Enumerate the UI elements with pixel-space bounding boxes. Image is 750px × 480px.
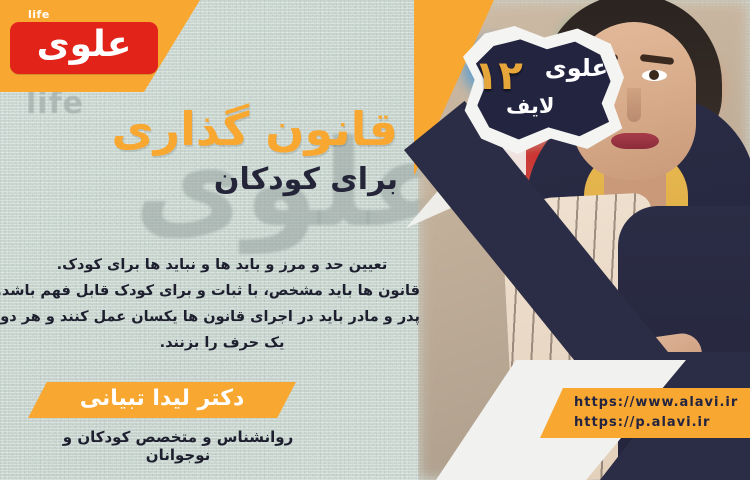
presenter-name: دکتر لیدا تبیانی [80,388,245,413]
presenter-pupil-right [649,70,659,80]
logo-badge[interactable]: علوی [10,22,158,74]
website-url-primary[interactable]: https://www.alavi.ir [574,393,750,413]
presenter-role: روانشناس و متخصص کودکان و نوجوانان [28,428,328,464]
badge-life-word: لایف [506,96,555,117]
headline-line-1: قانون گذاری [68,104,398,156]
body-copy: تعیین حد و مرز و باید ها و نباید ها برای… [24,252,420,356]
channel-badge: ۱۲ علوی لایف [458,26,624,154]
presenter-name-banner: دکتر لیدا تبیانی [28,382,296,418]
body-line: قانون ها باید مشخص، با ثبات و برای کودک … [24,278,420,304]
promo-banner: علوی life K life [0,0,750,480]
logo-life-text: life [28,8,50,21]
url-banner: https://www.alavi.ir https://p.alavi.ir [540,388,750,438]
presenter-nose [627,88,641,122]
website-url-secondary[interactable]: https://p.alavi.ir [574,413,750,433]
headline: قانون گذاری برای کودکان [68,104,398,199]
logo-wordmark: علوی [37,27,132,69]
body-line: پدر و مادر باید در اجرای قانون ها یکسان … [24,304,420,330]
body-line: یک حرف را بزنند. [24,330,420,356]
headline-line-2: برای کودکان [68,160,398,199]
badge-channel-number: ۱۲ [474,56,523,96]
badge-brand-word: علوی [545,56,608,80]
body-line: تعیین حد و مرز و باید ها و نباید ها برای… [24,252,420,278]
